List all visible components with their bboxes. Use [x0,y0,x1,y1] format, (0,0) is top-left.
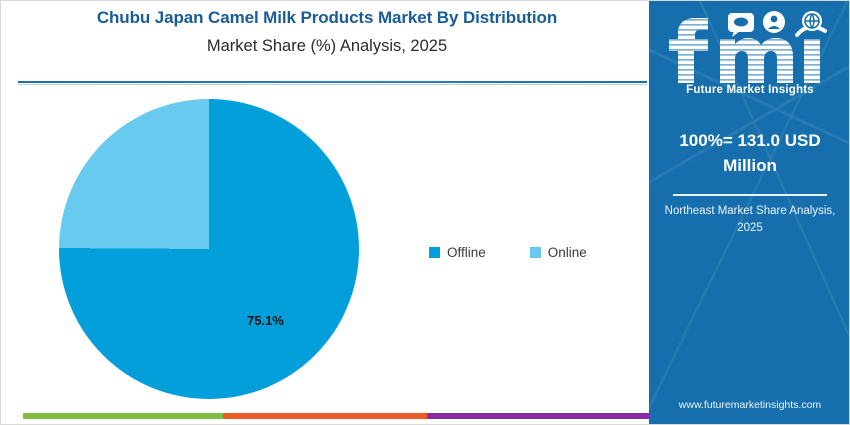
legend-label-online: Online [548,245,587,260]
legend-swatch-online [530,247,541,258]
pie-slice-label-offline: 75.1% [247,313,284,328]
purple-segment [427,413,649,419]
page-title: Chubu Japan Camel Milk Products Market B… [17,7,637,30]
panel-divider [673,194,827,196]
globe-icon [802,11,822,31]
chart-legend: Offline Online [429,245,587,260]
legend-swatch-offline [429,247,440,258]
total-value-label: 100%= 131.0 USD Million [659,129,841,178]
panel-caption: Northeast Market Share Analysis, 2025 [659,203,841,238]
user-globe-icon [763,11,785,33]
fmi-logo-tagline: Future Market Insights [649,84,850,96]
branding-panel: Future Market Insights 100%= 131.0 USD M… [649,1,850,425]
website-url[interactable]: www.futuremarketinsights.com [649,399,850,411]
chat-bubble-icon [728,13,754,37]
pie-slices [59,99,359,399]
page-subtitle: Market Share (%) Analysis, 2025 [17,34,637,59]
chart-canvas: Chubu Japan Camel Milk Products Market B… [0,0,850,425]
legend-label-offline: Offline [447,245,486,260]
pie-chart: 75.1% [59,99,359,399]
orange-segment [223,413,427,419]
fmi-logo: Future Market Insights [649,9,850,96]
legend-item-offline[interactable]: Offline [429,245,486,260]
title-divider [18,81,647,83]
fmi-logo-icon [664,9,836,83]
title-divider-soft [18,84,647,85]
title-block: Chubu Japan Camel Milk Products Market B… [17,7,637,59]
green-segment [23,413,223,419]
bottom-accent-bar [23,413,649,419]
legend-item-online[interactable]: Online [530,245,587,260]
